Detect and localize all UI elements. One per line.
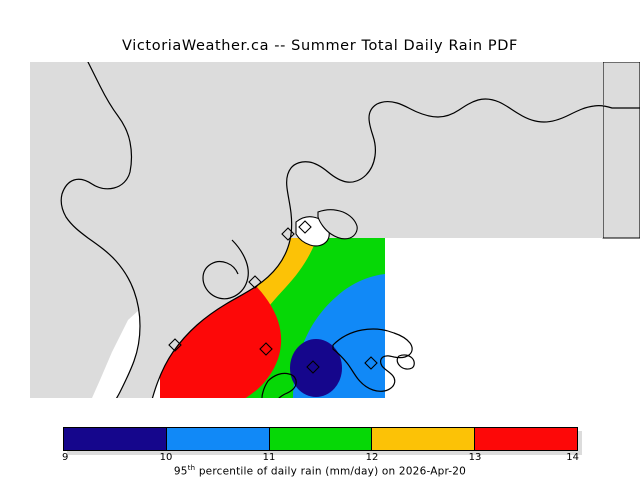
map-svg bbox=[0, 62, 640, 398]
colorbar-caption: 95th percentile of daily rain (mm/day) o… bbox=[0, 464, 640, 478]
contour-band-9-10 bbox=[290, 339, 342, 397]
colorbar-tick-10: 10 bbox=[160, 452, 173, 463]
weather-map-page: VictoriaWeather.ca -- Summer Total Daily… bbox=[0, 0, 640, 480]
colorbar-band-10-11 bbox=[167, 428, 270, 450]
land-east-block bbox=[385, 62, 603, 238]
caption-rest: percentile of daily rain (mm/day) on 202… bbox=[195, 466, 466, 478]
colorbar-tick-14: 14 bbox=[566, 452, 579, 463]
colorbar[interactable] bbox=[63, 427, 578, 451]
colorbar-band-13-14 bbox=[475, 428, 577, 450]
colorbar-band-9-10 bbox=[64, 428, 167, 450]
colorbar-tick-9: 9 bbox=[62, 452, 68, 463]
page-title: VictoriaWeather.ca -- Summer Total Daily… bbox=[0, 38, 640, 54]
caption-percentile-number: 95 bbox=[174, 466, 188, 478]
colorbar-band-12-13 bbox=[372, 428, 475, 450]
land-mainland bbox=[603, 62, 640, 238]
colorbar-band-11-12 bbox=[270, 428, 373, 450]
colorbar-panel: 9 10 11 12 13 14 95th percentile of dail… bbox=[0, 418, 640, 480]
colorbar-tick-12: 12 bbox=[366, 452, 379, 463]
map-panel[interactable] bbox=[0, 62, 640, 398]
colorbar-tick-13: 13 bbox=[469, 452, 482, 463]
colorbar-tick-11: 11 bbox=[263, 452, 276, 463]
